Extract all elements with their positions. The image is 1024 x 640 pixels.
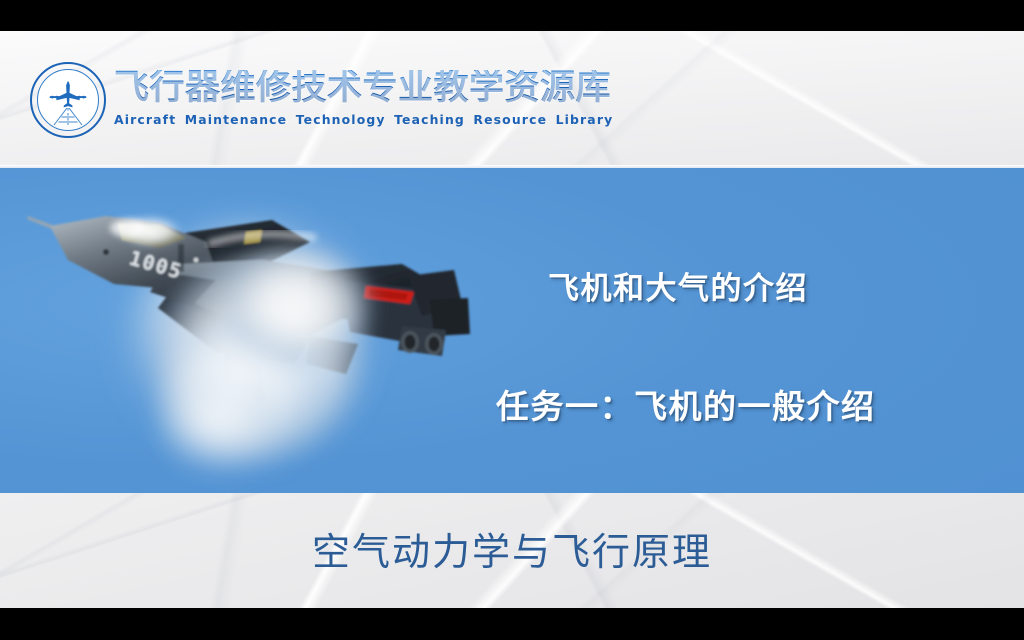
fighter-jet-vapor-cone-photo: 1005 [10,168,490,493]
crest-runway-icon [48,108,88,126]
letterbox-bar-top [0,0,1024,31]
slide-header-band: 飞行器维修技术专业教学资源库 Aircraft Maintenance Tech… [0,31,1024,168]
slide-footer-band: 空气动力学与飞行原理 [0,493,1024,608]
brand-wordmark: 飞行器维修技术专业教学资源库 Aircraft Maintenance Tech… [114,70,613,127]
brand-lockup: 飞行器维修技术专业教学资源库 Aircraft Maintenance Tech… [0,31,1024,168]
slide-heading: 飞机和大气的介绍 [548,263,808,308]
brand-title-chinese: 飞行器维修技术专业教学资源库 [114,70,613,108]
letterbox-bar-bottom [0,608,1024,640]
slide-subheading: 任务一：飞机的一般介绍 [496,380,876,428]
hero-photo-band: 1005 飞机和大气的介绍 任务一：飞机的一般介绍 [0,168,1024,493]
slide-canvas: 飞行器维修技术专业教学资源库 Aircraft Maintenance Tech… [0,31,1024,608]
header-divider [0,165,1024,168]
presentation-slide: 飞行器维修技术专业教学资源库 Aircraft Maintenance Tech… [0,0,1024,640]
brand-title-english: Aircraft Maintenance Technology Teaching… [114,112,613,127]
course-title: 空气动力学与飞行原理 [0,521,1024,576]
aircraft-crest-icon [30,62,106,138]
